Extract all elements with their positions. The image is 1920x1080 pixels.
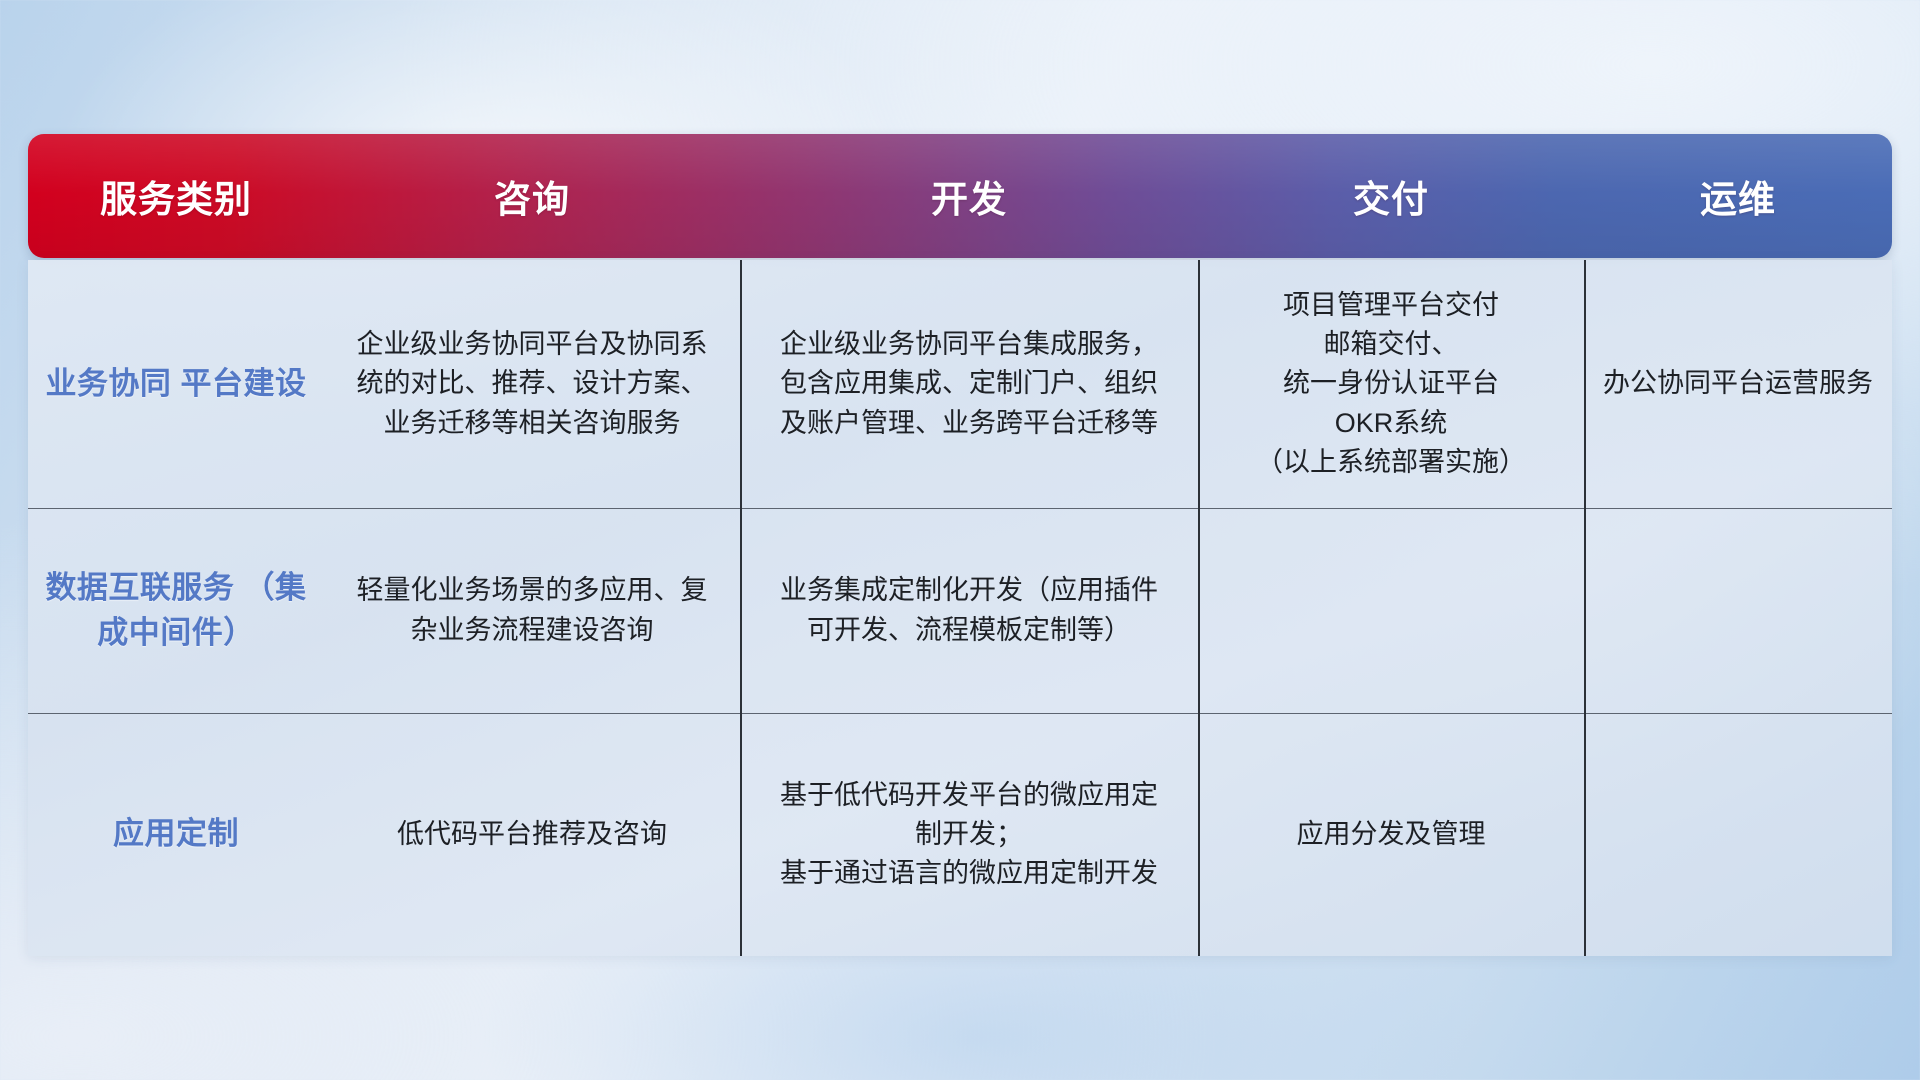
cell-text: 业务集成定制化开发（应用插件 可开发、流程模板定制等） (780, 571, 1158, 649)
row-label-cell: 应用定制 (28, 713, 324, 956)
cell-delivery: 应用分发及管理 (1198, 713, 1584, 956)
service-category-table: 服务类别 咨询 开发 交付 运维 业务协同 平台建设 企业级业务协同平台及协同系… (28, 134, 1892, 956)
row-label-text: 应用定制 (113, 812, 239, 856)
cell-consulting: 企业级业务协同平台及协同系 统的对比、推荐、设计方案、 业务迁移等相关咨询服务 (324, 260, 740, 508)
cell-text: 办公协同平台运营服务 (1603, 364, 1873, 403)
row-label-text: 业务协同 平台建设 (45, 362, 306, 406)
column-header-delivery: 交付 (1198, 169, 1584, 223)
row-label-cell: 业务协同 平台建设 (28, 260, 324, 508)
table-row: 应用定制 低代码平台推荐及咨询 基于低代码开发平台的微应用定 制开发； 基于通过… (28, 713, 1892, 956)
cell-development: 业务集成定制化开发（应用插件 可开发、流程模板定制等） (740, 508, 1198, 713)
cell-development: 基于低代码开发平台的微应用定 制开发； 基于通过语言的微应用定制开发 (740, 713, 1198, 956)
cell-operations (1584, 508, 1892, 713)
column-header-category: 服务类别 (28, 169, 324, 223)
cell-text: 应用分发及管理 (1297, 815, 1486, 854)
table-header-row: 服务类别 咨询 开发 交付 运维 (28, 134, 1892, 258)
cell-text: 低代码平台推荐及咨询 (397, 815, 667, 854)
table-body: 业务协同 平台建设 企业级业务协同平台及协同系 统的对比、推荐、设计方案、 业务… (28, 260, 1892, 956)
cell-development: 企业级业务协同平台集成服务， 包含应用集成、定制门户、组织 及账户管理、业务跨平… (740, 260, 1198, 508)
column-header-development: 开发 (740, 169, 1198, 223)
cell-text: 企业级业务协同平台及协同系 统的对比、推荐、设计方案、 业务迁移等相关咨询服务 (357, 325, 708, 442)
cell-consulting: 低代码平台推荐及咨询 (324, 713, 740, 956)
cell-operations (1584, 713, 1892, 956)
table-row: 业务协同 平台建设 企业级业务协同平台及协同系 统的对比、推荐、设计方案、 业务… (28, 260, 1892, 508)
cell-text: 企业级业务协同平台集成服务， 包含应用集成、定制门户、组织 及账户管理、业务跨平… (780, 325, 1158, 442)
cell-delivery: 项目管理平台交付 邮箱交付、 统一身份认证平台 OKR系统 （以上系统部署实施） (1198, 260, 1584, 508)
row-label-text: 数据互联服务 （集成中间件） (44, 566, 308, 654)
cell-consulting: 轻量化业务场景的多应用、复 杂业务流程建设咨询 (324, 508, 740, 713)
column-header-consulting: 咨询 (324, 169, 740, 223)
cell-text: 基于低代码开发平台的微应用定 制开发； 基于通过语言的微应用定制开发 (780, 776, 1158, 893)
column-header-operations: 运维 (1584, 169, 1892, 223)
cell-operations: 办公协同平台运营服务 (1584, 260, 1892, 508)
cell-delivery (1198, 508, 1584, 713)
table-row: 数据互联服务 （集成中间件） 轻量化业务场景的多应用、复 杂业务流程建设咨询 业… (28, 508, 1892, 713)
row-label-cell: 数据互联服务 （集成中间件） (28, 508, 324, 713)
cell-text: 轻量化业务场景的多应用、复 杂业务流程建设咨询 (357, 571, 708, 649)
cell-text: 项目管理平台交付 邮箱交付、 统一身份认证平台 OKR系统 （以上系统部署实施） (1256, 286, 1526, 482)
